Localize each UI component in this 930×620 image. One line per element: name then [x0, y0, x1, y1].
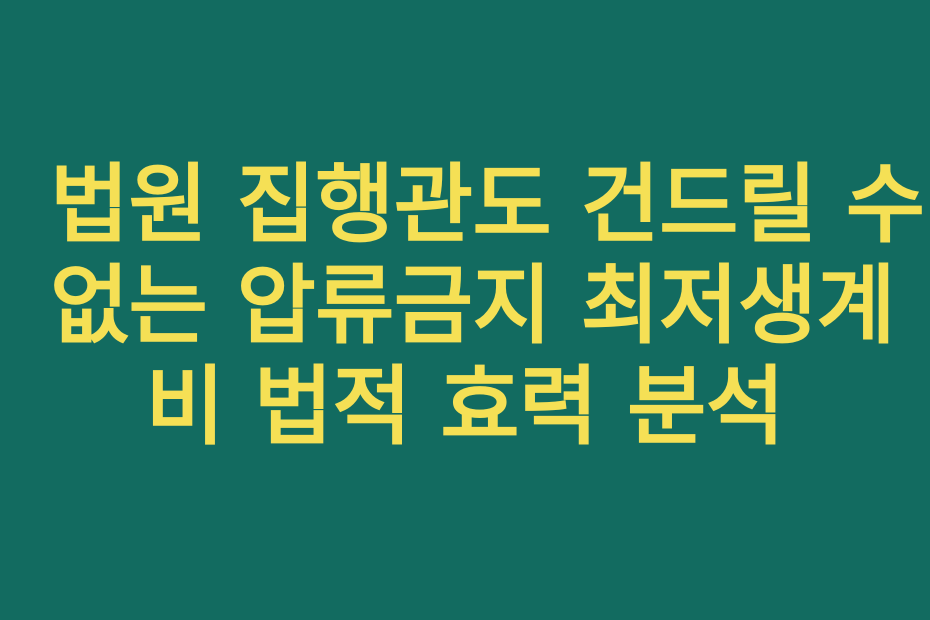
page-title: 법원 집행관도 건드릴 수 없는 압류금지 최저생계 비 법적 효력 분석: [50, 155, 880, 458]
title-line-1: 법원 집행관도 건드릴 수: [50, 155, 880, 256]
title-line-2: 없는 압류금지 최저생계: [50, 256, 880, 357]
thumbnail-banner: 법원 집행관도 건드릴 수 없는 압류금지 최저생계 비 법적 효력 분석: [0, 0, 930, 620]
title-line-3: 비 법적 효력 분석: [50, 357, 880, 458]
